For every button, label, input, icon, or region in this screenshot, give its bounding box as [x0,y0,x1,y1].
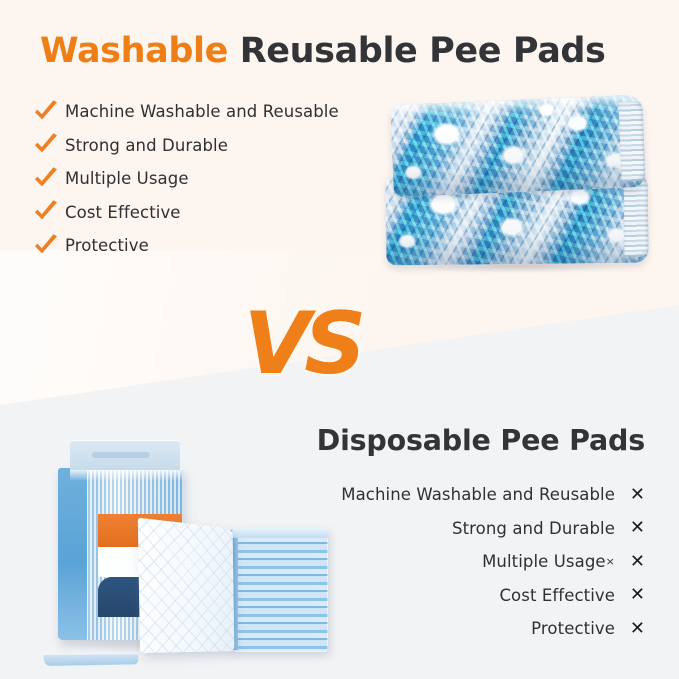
pad-stack-top-sheet [232,528,328,538]
cross-icon: ✕ [615,620,645,638]
feature-label: Machine Washable and Reusable [341,485,615,504]
stray-mark: × [606,555,615,568]
list-item: Machine Washable and Reusable [31,95,371,129]
list-item: Protective [31,229,371,263]
feature-label: Cost Effective [61,203,181,222]
washable-feature-list: Machine Washable and Reusable Strong and… [31,95,371,263]
pad-sheet-edges [618,101,646,182]
feature-label: Machine Washable and Reusable [61,102,339,121]
washable-title-highlight: Washable [40,31,228,71]
feature-text: Strong and Durable [452,519,615,538]
feature-label: Protective [531,619,615,638]
washable-title-rest: Reusable Pee Pads [240,31,606,71]
feature-label: Multiple Usage [61,169,189,188]
feature-label: Strong and Durable [61,136,228,155]
blue-pad-stack [232,528,328,652]
washable-section-title: Washable Reusable Pee Pads [40,31,606,71]
feature-label: Strong and Durable [452,519,615,538]
check-icon [31,166,61,192]
versus-badge: VS [240,296,364,394]
folded-pad-upper [390,95,646,197]
disposable-section-title: Disposable Pee Pads [317,424,645,457]
feature-label: Cost Effective [499,586,615,605]
list-item: Cost Effective [31,196,371,230]
box-dispenser-slit [92,452,150,458]
check-icon [31,99,61,125]
check-icon [31,233,61,259]
list-item: Strong and Durable [31,129,371,163]
check-icon [31,132,61,158]
list-item: Multiple Usage [31,162,371,196]
cross-icon: ✕ [615,519,645,537]
quilted-pad-bottom-edge [44,654,139,666]
feature-text: Machine Washable and Reusable [341,485,615,504]
cross-icon: ✕ [615,486,645,504]
feature-label: Multiple Usage× [482,552,615,571]
feature-label: Protective [61,236,149,255]
cross-icon: ✕ [615,586,645,604]
comparison-infographic: Washable Reusable Pee Pads Machine Washa… [0,0,679,679]
feature-text: Protective [531,619,615,638]
pad-sheet-edges [624,177,649,257]
feature-text: Cost Effective [499,586,615,605]
quilted-pad-front [138,518,235,653]
cross-icon: ✕ [615,553,645,571]
box-side-panel [58,468,87,640]
check-icon [31,199,61,225]
disposable-pads-product-image [44,428,344,660]
feature-text: Multiple Usage [482,552,606,571]
washable-pads-product-image [386,92,648,268]
